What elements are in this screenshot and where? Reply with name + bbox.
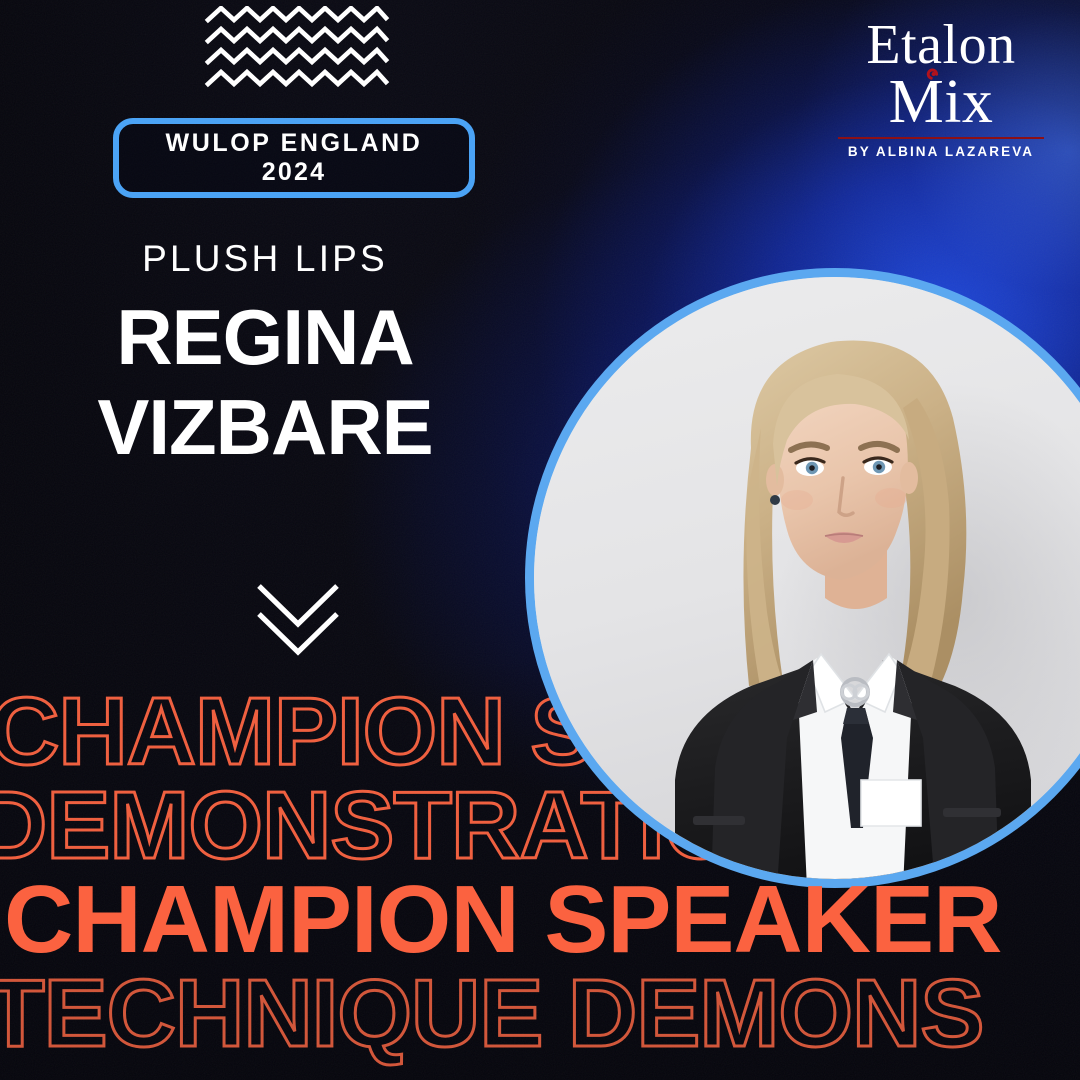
brand-logo: Etalon Mix BY ALBINA LAZAREVA bbox=[836, 18, 1046, 159]
speaker-name-last: VIZBARE bbox=[0, 390, 530, 466]
speaker-portrait-image bbox=[525, 268, 1080, 888]
brand-logo-tagline: BY ALBINA LAZAREVA bbox=[836, 144, 1046, 159]
zigzag-pattern-icon bbox=[204, 6, 390, 90]
event-badge[interactable]: WULOP ENGLAND 2024 bbox=[113, 118, 475, 198]
marquee-row-4-text: TECHNIQUE DEMONS bbox=[0, 966, 983, 1062]
speaker-kicker: PLUSH LIPS bbox=[0, 238, 530, 280]
double-chevron-down-icon bbox=[243, 578, 353, 658]
marquee-row-3: CHAMPION SPEAKER bbox=[0, 872, 1080, 968]
marquee-row-4: TECHNIQUE DEMONS bbox=[0, 966, 1080, 1062]
brand-logo-word-etalon: Etalon bbox=[836, 18, 1046, 73]
red-spiral-icon bbox=[923, 67, 943, 87]
brand-logo-divider bbox=[838, 137, 1044, 139]
brand-logo-row-mix: Mix bbox=[889, 71, 994, 133]
speaker-portrait bbox=[525, 268, 1080, 888]
poster-canvas: WULOP ENGLAND 2024 Etalon Mix BY ALBINA … bbox=[0, 0, 1080, 1080]
event-badge-year: 2024 bbox=[262, 158, 326, 187]
event-badge-title: WULOP ENGLAND bbox=[166, 129, 423, 158]
speaker-name-first: REGINA bbox=[0, 300, 530, 376]
marquee-row-3-text: CHAMPION SPEAKER bbox=[4, 872, 1001, 968]
